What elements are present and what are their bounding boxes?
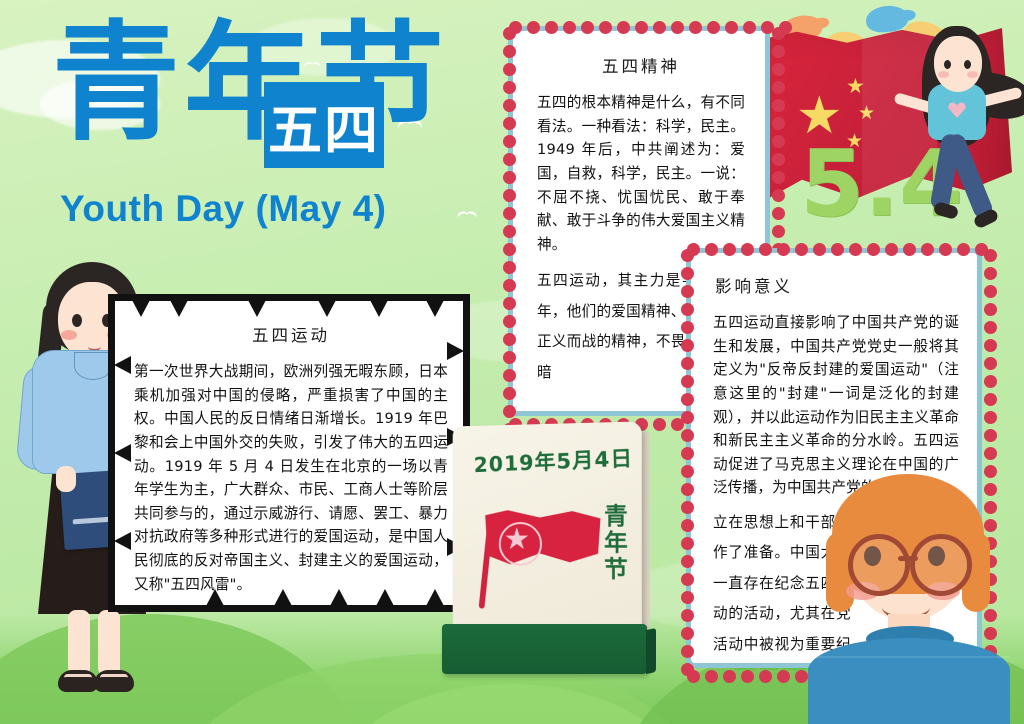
panel-body-text: 五四的根本精神是什么，有不同看法。一种看法：科学，民主。1949 年后，中共阐述… [537,91,745,256]
scallop-dot [681,519,694,532]
scallop-dot [984,357,997,370]
eye [964,60,971,69]
scallop-dot [503,153,516,166]
calendar-vertical-label: 青年节 [598,503,627,583]
desk-calendar: 2019年5月4日 ★ 青年节 [442,424,654,674]
scallop-dot [509,21,522,34]
jumping-girl-illustration [898,14,1018,254]
scallop-dot [635,21,648,34]
star-icon: ★ [846,76,865,97]
calendar-page: 2019年5月4日 ★ 青年节 [453,421,642,641]
scallop-dot [527,21,540,34]
scallop-dot [581,21,594,34]
sweater [808,638,1010,724]
scallop-dot [503,207,516,220]
scallop-dot [984,447,997,460]
blush [967,71,978,78]
scallop-dot [671,418,684,431]
panel-may-fourth-movement: 五四运动 第一次世界大战期间，欧洲列强无暇东顾，日本乘机加强对中国的侵略，严重损… [108,294,470,612]
scallop-dot [681,465,694,478]
shoe [58,670,98,692]
shoe [933,201,960,220]
leg [68,610,90,676]
scallop-dot [503,27,516,40]
scallop-dot [681,537,694,550]
panel-heading: 影响意义 [715,273,959,297]
scallop-dot [671,21,684,34]
scallop-dot [984,393,997,406]
hand [56,466,76,492]
scallop-dot [503,387,516,400]
title-subtitle-english: Youth Day (May 4) [60,188,386,230]
scallop-dot [503,81,516,94]
scallop-dot [503,135,516,148]
scallop-dot [503,63,516,76]
panel-content: 五四运动 第一次世界大战期间，欧洲列强无暇东顾，日本乘机加强对中国的侵略，严重损… [134,316,448,594]
scallop-dot [725,21,738,34]
boy-illustration [804,474,1014,724]
chinese-flag-illustration: ★ ★ ★ ★ ★ 5.4 [754,0,1024,270]
scallop-dot [503,189,516,202]
glasses-bridge [898,556,918,561]
leg [98,610,120,676]
panel-heading: 五四精神 [537,53,745,77]
scallop-dot [503,171,516,184]
calendar-base [442,624,647,674]
panel-heading: 五四运动 [134,322,448,346]
border-spike [447,342,464,360]
blush [61,330,77,340]
blush [938,71,949,78]
scallop-dot [617,21,630,34]
border-spike [114,532,131,550]
scallop-dot [599,21,612,34]
panel-border-top [108,294,470,301]
border-spike [248,300,266,317]
panel-body-text: 五四运动直接影响了中国共产党的诞生和发展，中国共产党党史一般将其定义为"反帝反封… [713,311,959,500]
scallop-dot [503,279,516,292]
scallop-dot [707,21,720,34]
glasses-icon [848,534,910,596]
panel-border-bottom [108,605,470,612]
youth-league-flag-icon: ★ [476,510,601,595]
panel-body-text: 第一次世界大战期间，欧洲列强无暇东顾，日本乘机加强对中国的侵略，严重损害了中国的… [134,360,448,596]
border-spike [370,300,388,317]
border-spike [170,300,188,317]
scallop-dot [503,405,516,418]
shoe [94,670,134,692]
star-icon: ★ [858,104,875,123]
collar [74,352,112,380]
scallop-dot [503,45,516,58]
calendar-date: 2019年5月4日 [473,442,633,479]
scallop-dot [503,225,516,238]
title-badge-54: 五四 [264,82,384,168]
scallop-dot [984,285,997,298]
scallop-dot [653,418,666,431]
star-icon: ★ [504,525,530,555]
border-spike [318,300,336,317]
poster-title-block: 青年节 五四 Youth Day (May 4) [52,20,482,235]
eye [944,60,951,69]
scallop-dot [503,369,516,382]
eye [72,314,82,327]
scallop-dot [563,21,576,34]
border-spike [114,356,131,374]
scallop-dot [681,483,694,496]
border-spike [114,444,131,462]
scallop-dot [503,243,516,256]
scallop-dot [984,429,997,442]
scallop-dot [503,99,516,112]
scallop-dot [681,429,694,442]
scallop-dot [984,339,997,352]
scallop-dot [984,375,997,388]
scallop-dot [984,321,997,334]
glasses-icon [910,534,972,596]
scallop-dot [545,21,558,34]
face [934,36,982,92]
scallop-dot [681,501,694,514]
scallop-dot [984,411,997,424]
border-spike [132,300,150,317]
scallop-dot [984,303,997,316]
scallop-dot [681,447,694,460]
scallop-dot [503,261,516,274]
scallop-dot [689,21,702,34]
poster-canvas: 青年节 五四 Youth Day (May 4) ★ ★ ★ ★ ★ 5.4 [0,0,1024,724]
scallop-dot [653,21,666,34]
scallop-dot [503,117,516,130]
border-spike [426,300,444,317]
